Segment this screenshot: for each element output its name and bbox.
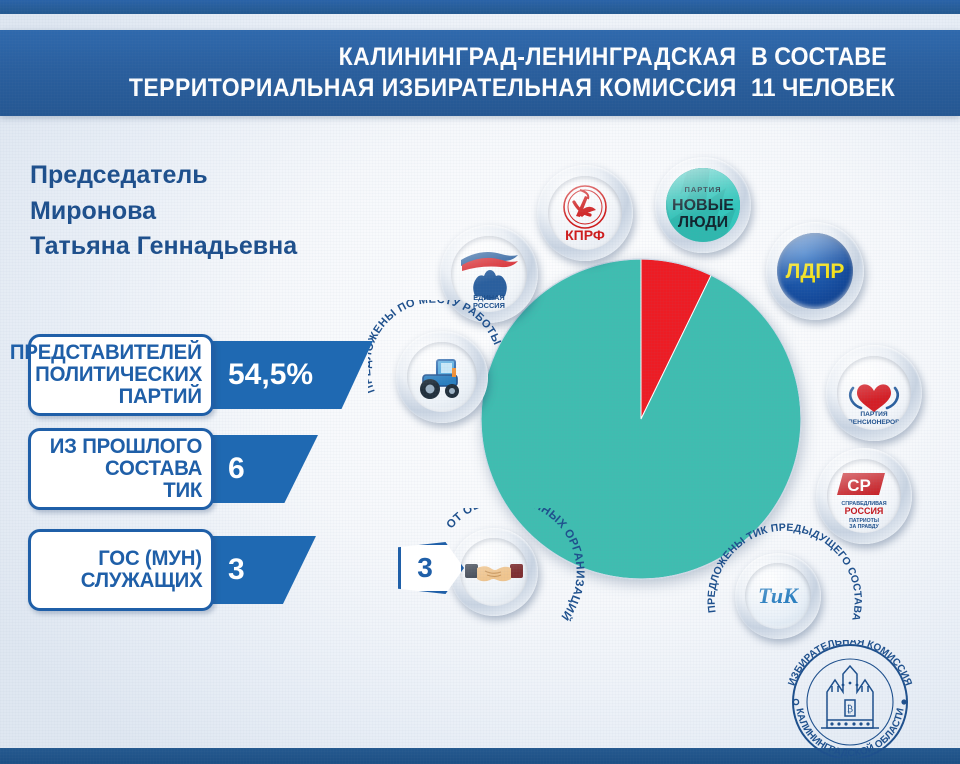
edinaya-rossiya-logo-icon: ЕДИНАЯ РОССИЯ bbox=[451, 236, 527, 312]
stat-label-line1: ГОС (МУН) bbox=[98, 548, 202, 570]
composition-line2: 11 ЧЕЛОВЕК bbox=[751, 73, 895, 104]
svg-text:ИЗБИРАТЕЛЬНАЯ КОМИССИЯ: ИЗБИРАТЕЛЬНАЯ КОМИССИЯ bbox=[787, 640, 914, 687]
stat-label-plaque: ГОС (МУН) СЛУЖАЩИХ bbox=[28, 529, 214, 611]
kprf-logo-icon: КПРФ bbox=[548, 176, 622, 250]
stat-value-flag: 3 bbox=[198, 536, 316, 604]
stat-value-flag: 54,5% bbox=[198, 341, 373, 409]
badge-partiya-pensionerov[interactable]: ПАРТИЯ ПЕНСИОНЕРОВ bbox=[826, 345, 922, 441]
pie-slices bbox=[481, 259, 801, 579]
seal-text-bottom: КАЛИНИНГРАДСКОЙ ОБЛАСТИ bbox=[793, 707, 906, 758]
svg-text:ПАРТИЯ: ПАРТИЯ bbox=[860, 411, 888, 418]
svg-text:РОССИЯ: РОССИЯ bbox=[845, 506, 884, 516]
header-title-group: КАЛИНИНГРАД-ЛЕНИНГРАДСКАЯ ТЕРРИТОРИАЛЬНА… bbox=[0, 30, 755, 116]
badge-novye-lyudi[interactable]: ПАРТИЯ НОВЫЕ ЛЮДИ bbox=[655, 157, 751, 253]
novye-lyudi-logo-icon: ПАРТИЯ НОВЫЕ ЛЮДИ bbox=[666, 168, 740, 242]
badge-workplace-tractor[interactable] bbox=[396, 331, 488, 423]
composition-line1: В СОСТАВЕ bbox=[751, 42, 887, 73]
tag-value: 3 bbox=[398, 542, 464, 594]
chairperson-surname: Миронова bbox=[30, 194, 360, 230]
stat-value: 3 bbox=[228, 553, 245, 587]
handshake-count-tag: 3 bbox=[398, 542, 464, 594]
tik-label: ТиК bbox=[758, 583, 799, 608]
stat-label-line2: СОСТАВА bbox=[105, 458, 202, 480]
svg-text:КПРФ: КПРФ bbox=[565, 227, 605, 243]
svg-text:СР: СР bbox=[847, 476, 871, 495]
election-commission-seal: ИЗБИРАТЕЛЬНАЯ КОМИССИЯ КАЛИНИНГРАДСКОЙ О… bbox=[775, 640, 925, 758]
badge-kprf[interactable]: КПРФ bbox=[537, 165, 633, 261]
tik-logo-icon: ТиК bbox=[745, 563, 811, 629]
spravedlivaya-rossiya-logo-icon: СР СПРАВЕДЛИВАЯ РОССИЯ ПАТРИОТЫ ЗА ПРАВД… bbox=[827, 459, 901, 533]
header-composition-group: В СОСТАВЕ 11 ЧЕЛОВЕК bbox=[751, 30, 946, 116]
stat-label-plaque: ИЗ ПРОШЛОГО СОСТАВА ТИК bbox=[28, 428, 214, 510]
svg-text:₿: ₿ bbox=[847, 704, 853, 714]
svg-text:ЛЮДИ: ЛЮДИ bbox=[678, 214, 728, 231]
svg-text:ЗА ПРАВДУ: ЗА ПРАВДУ bbox=[849, 524, 879, 530]
stat-label-plaque: ПРЕДСТАВИТЕЛЕЙ ПОЛИТИЧЕСКИХ ПАРТИЙ bbox=[28, 334, 214, 416]
stat-label-line3: ТИК bbox=[163, 480, 202, 502]
svg-text:ПЕНСИОНЕРОВ: ПЕНСИОНЕРОВ bbox=[848, 419, 900, 426]
chairperson-block: Председатель Миронова Татьяна Геннадьевн… bbox=[30, 158, 360, 265]
badge-edinaya-rossiya[interactable]: ЕДИНАЯ РОССИЯ bbox=[440, 225, 538, 323]
chairperson-role: Председатель bbox=[30, 158, 360, 194]
top-accent-bar bbox=[0, 0, 960, 14]
badge-tik[interactable]: ТиК bbox=[735, 553, 821, 639]
badge-ldpr[interactable]: ЛДПР bbox=[766, 222, 864, 320]
infographic-page: КАЛИНИНГРАД-ЛЕНИНГРАДСКАЯ ТЕРРИТОРИАЛЬНА… bbox=[0, 0, 960, 764]
badge-spravedlivaya-rossiya[interactable]: СР СПРАВЕДЛИВАЯ РОССИЯ ПАТРИОТЫ ЗА ПРАВД… bbox=[816, 448, 912, 544]
stat-label-line1: ИЗ ПРОШЛОГО bbox=[50, 436, 202, 458]
ldpr-logo-icon: ЛДПР bbox=[777, 233, 853, 309]
pie-slice bbox=[481, 259, 801, 579]
header-title-line2: ТЕРРИТОРИАЛЬНАЯ ИЗБИРАТЕЛЬНАЯ КОМИССИЯ bbox=[129, 73, 737, 104]
handshake-icon bbox=[460, 538, 528, 606]
stat-label-line3: ПАРТИЙ bbox=[119, 386, 202, 408]
svg-text:КАЛИНИНГРАДСКОЙ ОБЛАСТИ: КАЛИНИНГРАДСКОЙ ОБЛАСТИ bbox=[793, 707, 906, 758]
header-title-line1: КАЛИНИНГРАД-ЛЕНИНГРАДСКАЯ bbox=[339, 42, 737, 73]
svg-text:НОВЫЕ: НОВЫЕ bbox=[672, 197, 734, 214]
stat-value: 6 bbox=[228, 452, 245, 486]
chairperson-name: Татьяна Геннадьевна bbox=[30, 229, 360, 265]
stat-label-line1: ПРЕДСТАВИТЕЛЕЙ bbox=[10, 342, 202, 364]
svg-text:ПАРТИЯ: ПАРТИЯ bbox=[684, 185, 721, 194]
stat-label-line2: СЛУЖАЩИХ bbox=[80, 570, 202, 592]
stat-value: 54,5% bbox=[228, 358, 313, 392]
pensionerov-logo-icon: ПАРТИЯ ПЕНСИОНЕРОВ bbox=[837, 356, 911, 430]
stat-value-flag: 6 bbox=[198, 435, 318, 503]
seal-text-top: ИЗБИРАТЕЛЬНАЯ КОМИССИЯ bbox=[787, 640, 914, 687]
svg-text:РОССИЯ: РОССИЯ bbox=[473, 301, 505, 310]
svg-text:ЛДПР: ЛДПР bbox=[786, 260, 845, 283]
stat-label-line2: ПОЛИТИЧЕСКИХ bbox=[35, 364, 202, 386]
header-banner: КАЛИНИНГРАД-ЛЕНИНГРАДСКАЯ ТЕРРИТОРИАЛЬНА… bbox=[0, 30, 960, 116]
tractor-icon bbox=[407, 342, 477, 412]
